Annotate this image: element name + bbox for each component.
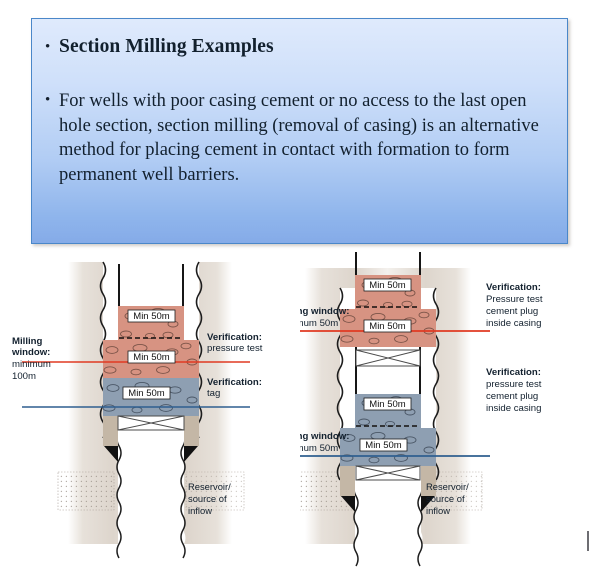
- bullet-item-body: • For wells with poor casing cement or n…: [45, 89, 545, 187]
- plug-label: Min 50m: [364, 279, 411, 291]
- svg-text:Reservoir/: Reservoir/: [188, 481, 231, 492]
- svg-text:source of: source of: [188, 493, 227, 504]
- svg-text:Min 50m: Min 50m: [133, 352, 170, 363]
- svg-text:cement plug: cement plug: [486, 306, 538, 317]
- svg-text:Min 50m: Min 50m: [365, 440, 402, 451]
- verification-upper-label: Verification: Pressure test cement plug …: [486, 282, 543, 329]
- plug-label: Min 50m: [128, 310, 175, 322]
- svg-text:Milling window:: Milling window:: [300, 431, 349, 442]
- bridge-plug-lower: [356, 466, 420, 480]
- content-banner: • Section Milling Examples • For wells w…: [31, 18, 568, 244]
- svg-text:Verification:: Verification:: [486, 367, 541, 378]
- svg-text:Min 50m: Min 50m: [133, 311, 170, 322]
- bullet-list: • Section Milling Examples • For wells w…: [32, 19, 567, 243]
- svg-text:inflow: inflow: [426, 505, 450, 516]
- svg-text:pressure test: pressure test: [486, 379, 542, 390]
- plug-label: Min 50m: [364, 320, 411, 332]
- bridge-plug: [118, 416, 184, 430]
- plug-label: Min 50m: [364, 398, 411, 410]
- bridge-plug-upper: [356, 350, 420, 366]
- bullet-item-title: • Section Milling Examples: [45, 36, 274, 58]
- svg-text:Min 50m: Min 50m: [369, 321, 406, 332]
- svg-text:pressure test: pressure test: [207, 343, 263, 354]
- svg-text:minimum: minimum: [12, 359, 51, 370]
- svg-text:Pressure test: Pressure test: [486, 294, 543, 305]
- right-figure: Min 50m Min 50m Min 50m Min 50m Milling …: [300, 250, 600, 569]
- svg-text:Min 50m: Min 50m: [369, 399, 406, 410]
- bullet-marker-icon: •: [45, 36, 59, 55]
- svg-text:inside casing: inside casing: [486, 318, 541, 329]
- svg-text:tag: tag: [207, 388, 220, 399]
- bullet-marker-icon: •: [45, 89, 59, 108]
- svg-text:100m: 100m: [12, 371, 36, 382]
- left-figure: Min 50m Min 50m Min 50m Milling window: …: [0, 250, 300, 569]
- svg-text:minimum 50m: minimum 50m: [300, 318, 338, 329]
- svg-text:Min 50m: Min 50m: [128, 388, 165, 399]
- svg-text:Milling: Milling: [12, 336, 43, 347]
- svg-text:Verification:: Verification:: [207, 377, 262, 388]
- plug-label: Min 50m: [128, 351, 175, 363]
- svg-text:Min 50m: Min 50m: [369, 280, 406, 291]
- svg-text:window:: window:: [11, 347, 50, 358]
- svg-text:Reservoir/: Reservoir/: [426, 481, 469, 492]
- svg-text:minimum 50m: minimum 50m: [300, 443, 338, 454]
- svg-text:Verification:: Verification:: [207, 332, 262, 343]
- milling-window-label: Milling window: minimum 100m: [11, 336, 51, 382]
- figure-row: Min 50m Min 50m Min 50m Milling window: …: [0, 250, 600, 569]
- verification-tag-label: Verification: tag: [207, 377, 262, 399]
- svg-text:inflow: inflow: [188, 505, 212, 516]
- svg-text:inside casing: inside casing: [486, 403, 541, 414]
- svg-text:source of: source of: [426, 493, 465, 504]
- plug-label: Min 50m: [360, 439, 407, 451]
- svg-text:Verification:: Verification:: [486, 282, 541, 293]
- page-corner-mark: [587, 531, 589, 551]
- verification-pressure-test-label: Verification: pressure test: [207, 332, 263, 354]
- slide-body-text: For wells with poor casing cement or no …: [59, 89, 545, 187]
- verification-lower-label: Verification: pressure test cement plug …: [486, 367, 542, 414]
- svg-text:cement plug: cement plug: [486, 391, 538, 402]
- plug-label: Min 50m: [123, 387, 170, 399]
- slide-title: Section Milling Examples: [59, 36, 274, 58]
- svg-text:Milling window:: Milling window:: [300, 306, 349, 317]
